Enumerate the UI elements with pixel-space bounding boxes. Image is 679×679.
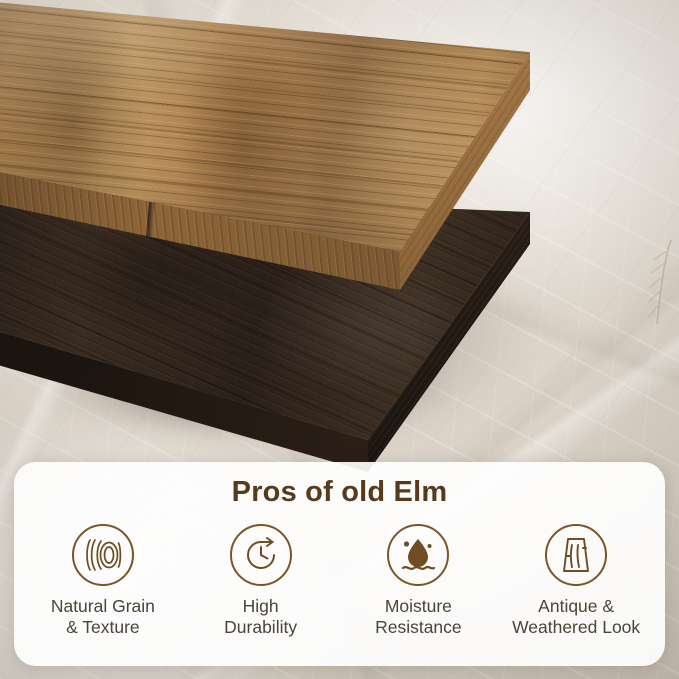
feature-moisture-resistance: Moisture Resistance [340, 524, 498, 639]
feature-antique-weathered: Antique & Weathered Look [497, 524, 655, 639]
feature-label: Natural Grain & Texture [51, 596, 155, 639]
feature-label: Moisture Resistance [375, 596, 462, 639]
wood-grain-icon [72, 524, 134, 586]
feature-label: High Durability [224, 596, 297, 639]
features-panel: Pros of old Elm Natura [14, 462, 665, 666]
features-list: Natural Grain & Texture High Durability [24, 524, 655, 639]
clock-refresh-icon [230, 524, 292, 586]
weathered-plank-icon [545, 524, 607, 586]
feature-high-durability: High Durability [182, 524, 340, 639]
product-image-scene: Pros of old Elm Natura [0, 0, 679, 679]
panel-title: Pros of old Elm [14, 476, 665, 509]
feature-natural-grain: Natural Grain & Texture [24, 524, 182, 639]
water-drop-icon [387, 524, 449, 586]
feature-label: Antique & Weathered Look [512, 596, 640, 639]
